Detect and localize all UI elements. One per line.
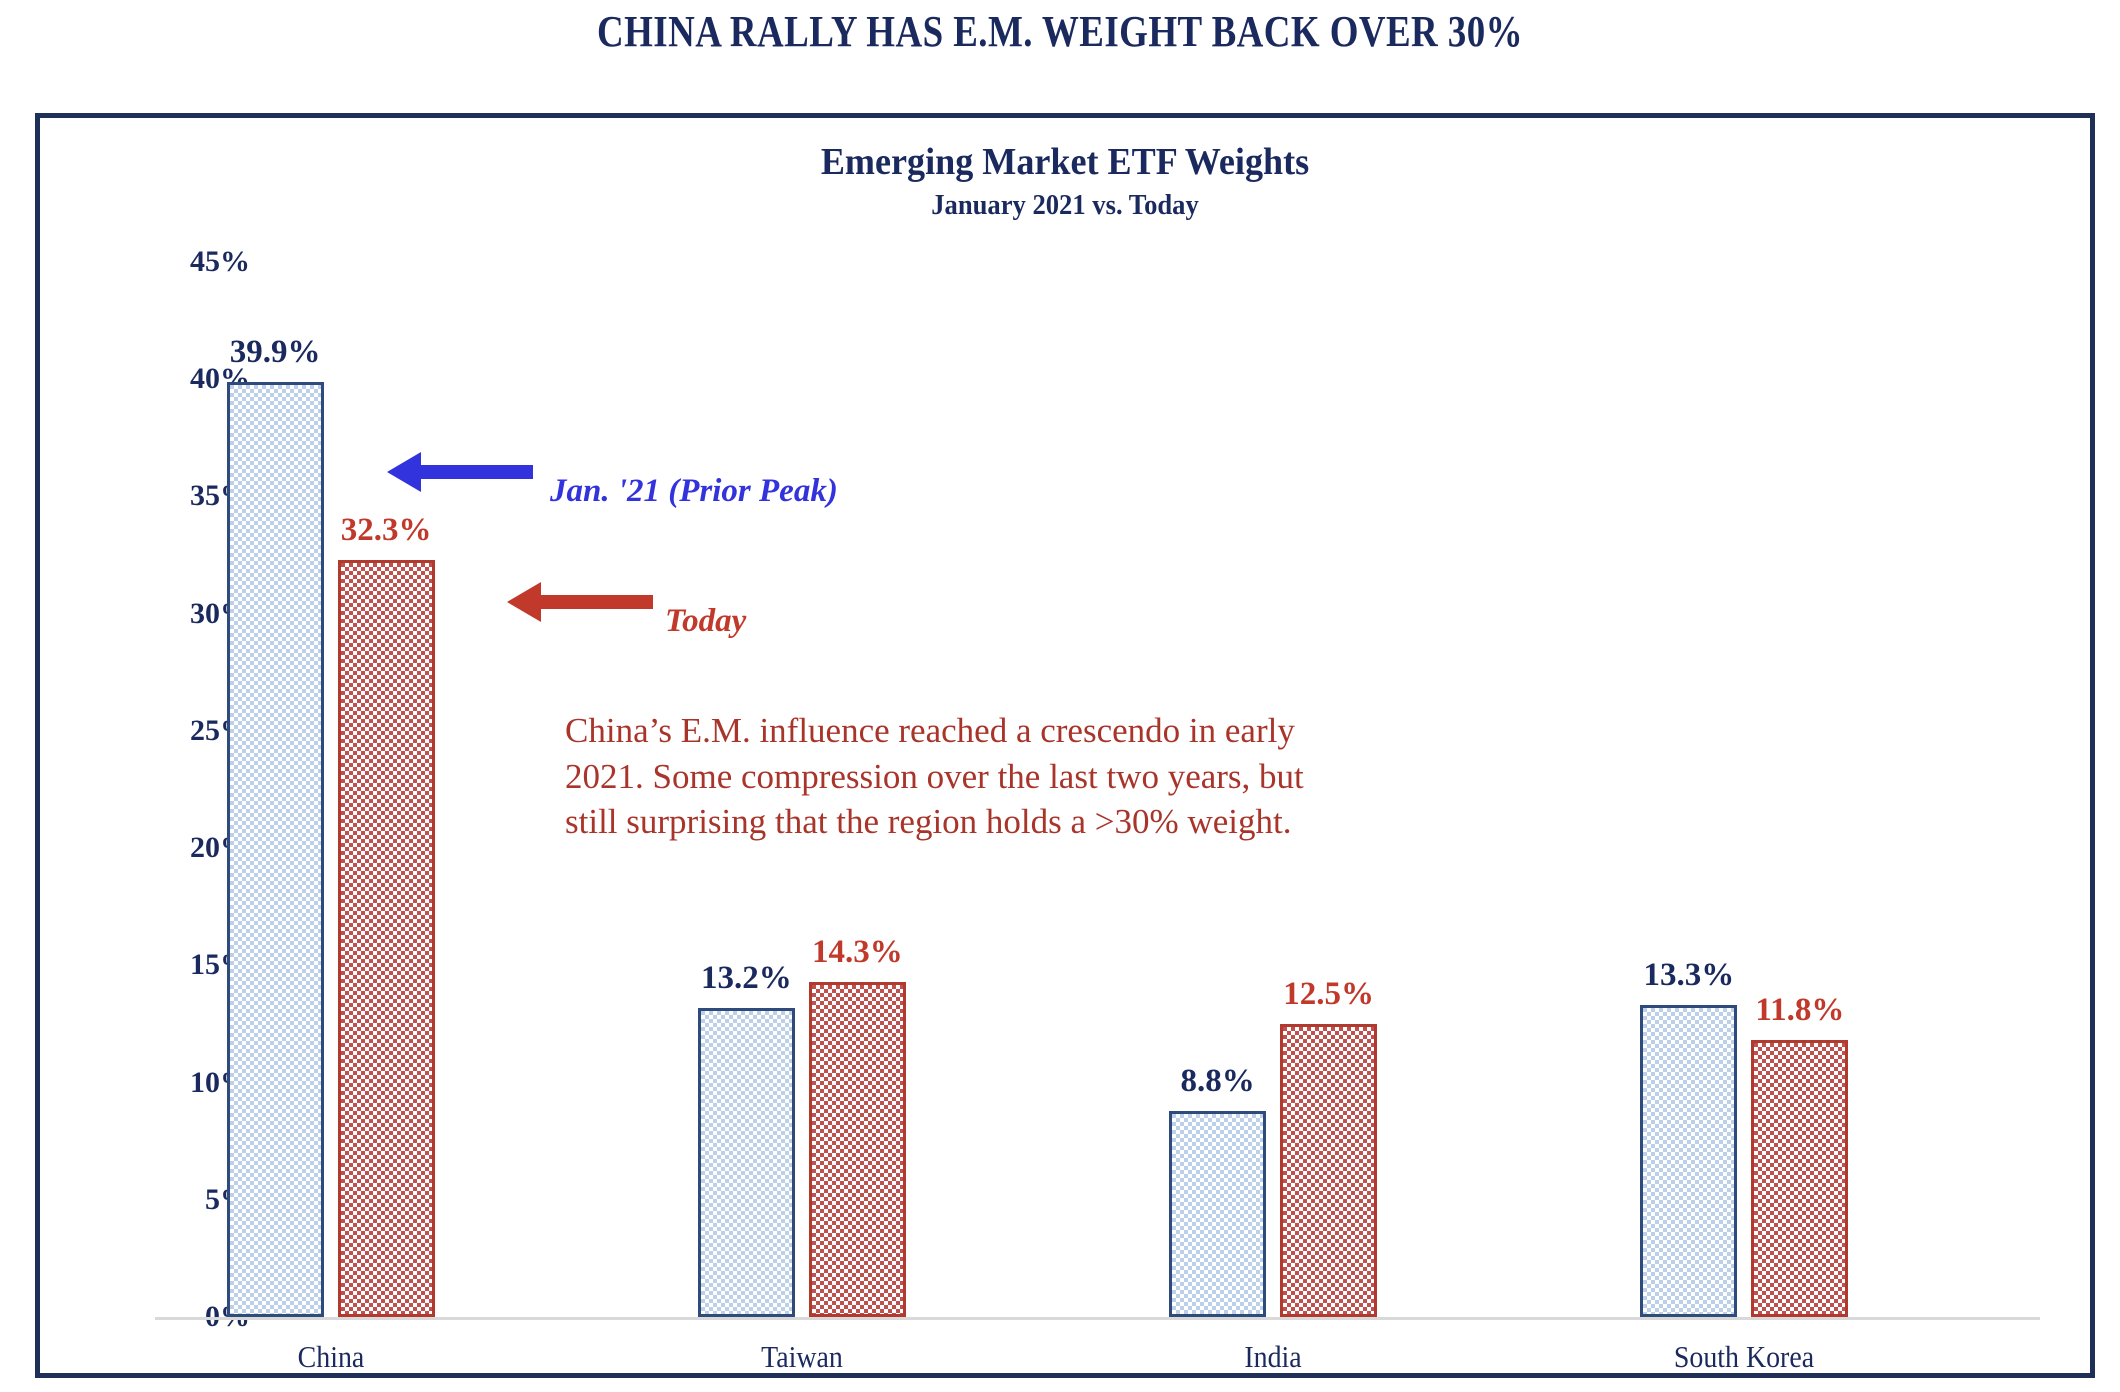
chart-title: Emerging Market ETF Weights bbox=[91, 140, 2039, 184]
axis-baseline bbox=[155, 1317, 2040, 1320]
chart-frame: Emerging Market ETF Weights January 2021… bbox=[35, 113, 2095, 1378]
x-axis-category-label: India bbox=[1244, 1339, 1301, 1375]
bar-china-today bbox=[338, 560, 435, 1317]
today-arrow-icon bbox=[505, 578, 655, 626]
bar-india-today bbox=[1280, 1024, 1377, 1317]
bar-value-label: 14.3% bbox=[812, 934, 903, 971]
bar-value-label: 13.3% bbox=[1644, 957, 1735, 994]
page-headline: CHINA RALLY HAS E.M. WEIGHT BACK OVER 30… bbox=[170, 6, 1951, 57]
bar-value-label: 13.2% bbox=[701, 960, 792, 997]
bar-value-label: 11.8% bbox=[1755, 992, 1844, 1029]
x-axis-category-label: South Korea bbox=[1674, 1339, 1814, 1375]
annotation-today-label: Today bbox=[665, 603, 746, 640]
bar-south-korea-today bbox=[1751, 1040, 1848, 1317]
annotation-body-note: China’s E.M. influence reached a crescen… bbox=[565, 708, 1305, 845]
jan21-arrow-icon bbox=[385, 448, 535, 496]
bar-value-label: 39.9% bbox=[230, 334, 321, 371]
bar-taiwan-today bbox=[809, 982, 906, 1317]
x-axis-category-label: Taiwan bbox=[761, 1339, 843, 1375]
y-axis-tick: 45% bbox=[140, 245, 250, 279]
bar-value-label: 8.8% bbox=[1181, 1063, 1255, 1100]
chart-subtitle: January 2021 vs. Today bbox=[91, 190, 2039, 222]
bar-taiwan-jan21 bbox=[698, 1008, 795, 1317]
bar-value-label: 32.3% bbox=[341, 512, 432, 549]
bar-china-jan21 bbox=[227, 382, 324, 1317]
bar-value-label: 12.5% bbox=[1283, 976, 1374, 1013]
annotation-jan21-label: Jan. '21 (Prior Peak) bbox=[550, 473, 838, 510]
x-axis-category-label: China bbox=[297, 1339, 364, 1375]
bar-south-korea-jan21 bbox=[1640, 1005, 1737, 1317]
bar-india-jan21 bbox=[1169, 1111, 1266, 1317]
